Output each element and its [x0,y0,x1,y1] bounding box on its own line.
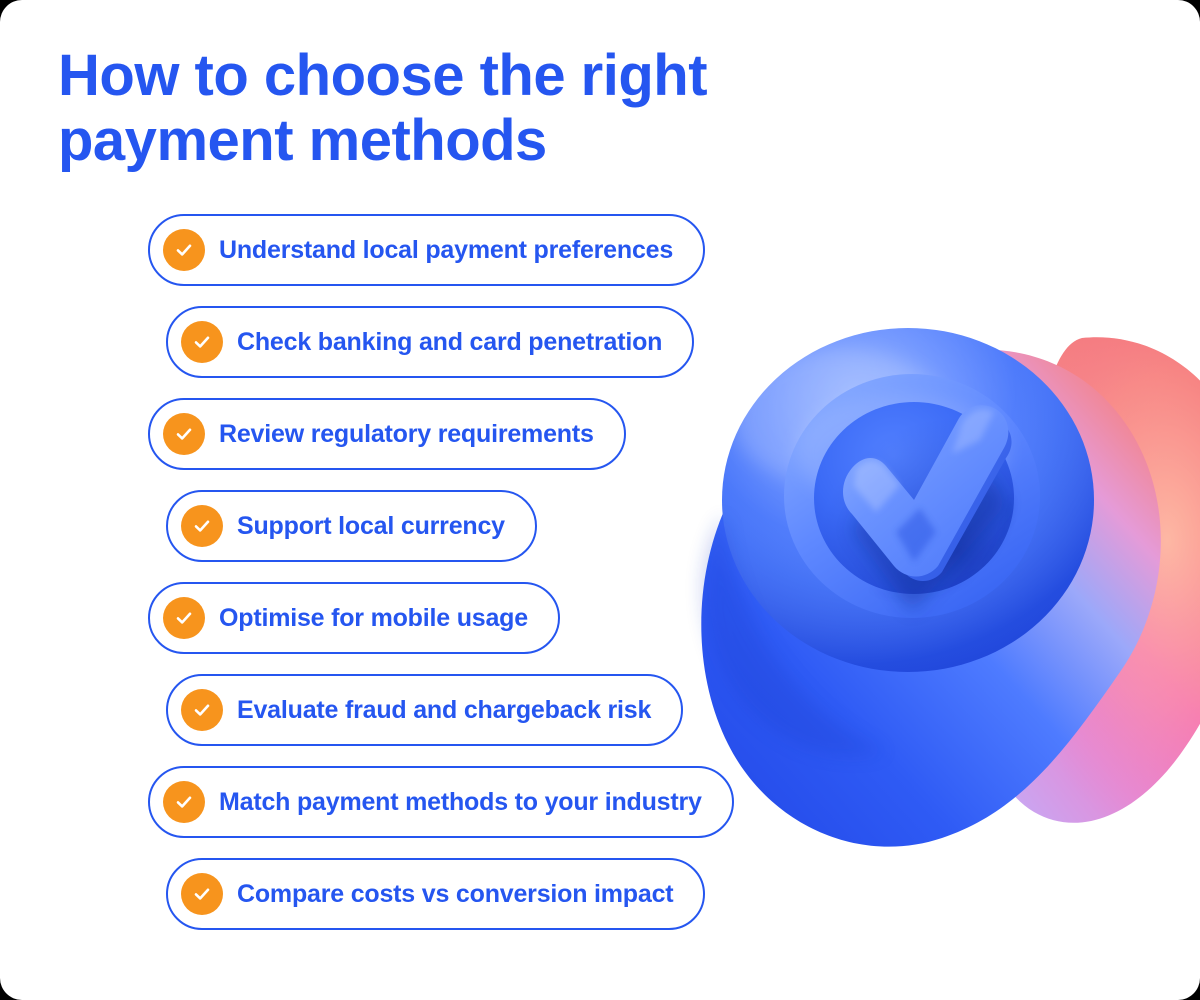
check-circle-icon [181,505,223,547]
page-title: How to choose the right payment methods [58,44,878,174]
checklist: Understand local payment preferences Che… [0,214,800,950]
list-item-label: Optimise for mobile usage [219,604,528,633]
list-item-label: Check banking and card penetration [237,328,662,357]
recessed-well-ring [784,374,1040,618]
list-item-label: Match payment methods to your industry [219,788,702,817]
list-item[interactable]: Compare costs vs conversion impact [166,858,705,930]
list-item[interactable]: Understand local payment preferences [148,214,705,286]
list-item-label: Review regulatory requirements [219,420,594,449]
check-circle-icon [163,413,205,455]
check-circle-icon [163,597,205,639]
list-item-label: Evaluate fraud and chargeback risk [237,696,651,725]
coral-pink-blob [987,337,1200,823]
extruded-checkmark [843,405,1012,612]
check-circle-icon [181,689,223,731]
gradient-tail [896,618,1181,880]
list-item-label: Support local currency [237,512,505,541]
check-circle-icon [163,229,205,271]
list-item[interactable]: Check banking and card penetration [166,306,694,378]
list-item[interactable]: Support local currency [166,490,537,562]
infographic-card: How to choose the right payment methods … [0,0,1200,1000]
list-item-label: Understand local payment preferences [219,236,673,265]
list-item[interactable]: Review regulatory requirements [148,398,626,470]
list-item[interactable]: Evaluate fraud and chargeback risk [166,674,683,746]
check-circle-icon [163,781,205,823]
list-item[interactable]: Optimise for mobile usage [148,582,560,654]
list-item[interactable]: Match payment methods to your industry [148,766,734,838]
check-circle-icon [181,321,223,363]
list-item-label: Compare costs vs conversion impact [237,880,673,909]
check-circle-icon [181,873,223,915]
